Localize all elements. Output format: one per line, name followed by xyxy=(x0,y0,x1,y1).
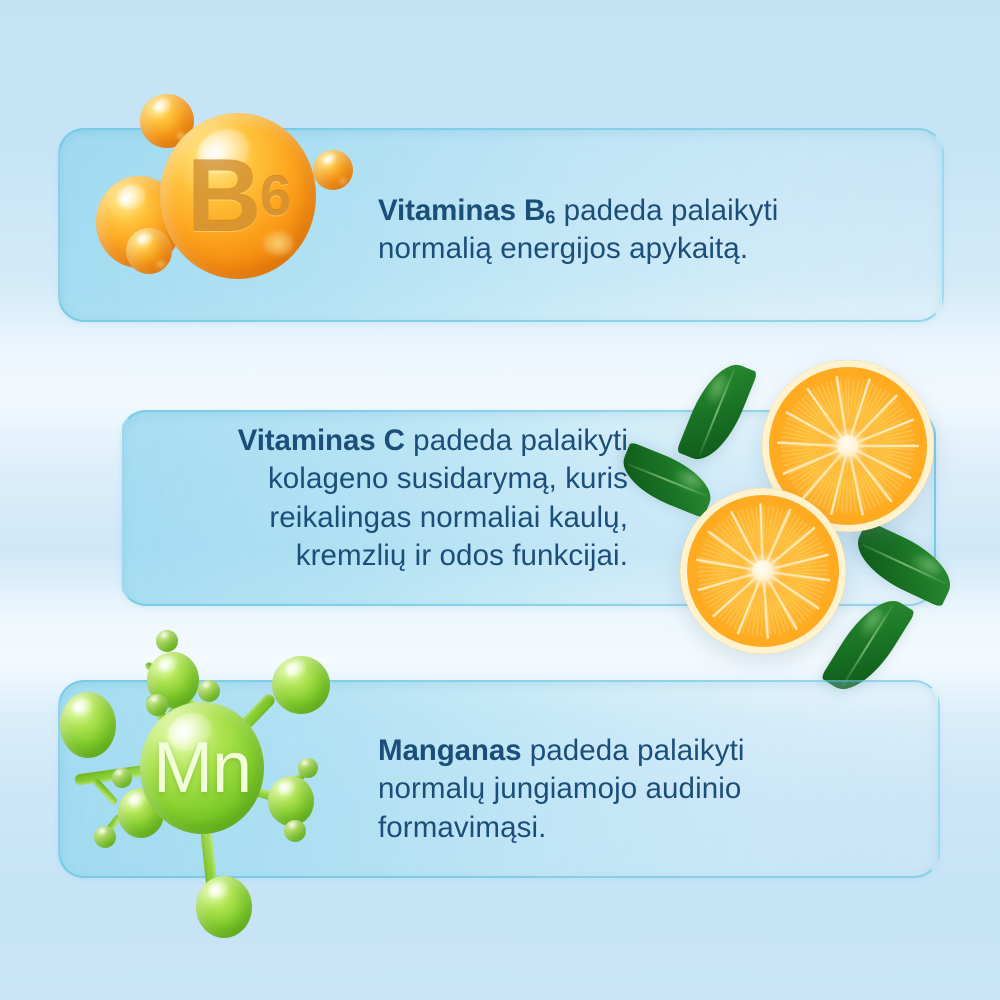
mn-sphere-bottom xyxy=(196,876,252,938)
mn-sphere-upper-right xyxy=(272,656,330,714)
label-vitamin-b6-name: Vitaminas B xyxy=(378,194,545,227)
label-vitamin-b6-subscript: 6 xyxy=(545,206,555,227)
mn-sphere-left-cluster-tiny-b xyxy=(94,826,116,848)
text-vitamin-c: Vitaminas C padeda palaikyti kolageno su… xyxy=(118,422,628,575)
leaf-shine xyxy=(854,603,890,644)
orange-half-bottom xyxy=(680,488,846,654)
mn-sphere-left-cluster-tiny-a xyxy=(112,768,132,788)
mn-main-sphere xyxy=(140,702,264,834)
label-vitamin-c: Vitaminas C xyxy=(238,424,405,457)
mn-sphere-top-cluster-tiny-c xyxy=(146,694,168,716)
infographic-canvas: B6 Vitaminas B6 padeda palaikyti normali… xyxy=(0,0,1000,1000)
text-vitamin-b6: Vitaminas B6 padeda palaikyti normalią e… xyxy=(378,192,898,269)
mn-sphere-right-cluster xyxy=(268,776,314,826)
mn-sphere-right-cluster-tiny-a xyxy=(298,758,318,778)
label-vitamin-b6: Vitaminas B6 xyxy=(378,194,555,227)
text-manganese: Manganas padeda palaikyti normalų jungia… xyxy=(378,732,898,847)
b6-satellite-sphere-bottom xyxy=(126,228,172,274)
b6-main-sphere xyxy=(160,113,316,279)
mn-sphere-top-cluster-tiny-a xyxy=(156,630,178,652)
b6-satellite-sphere-right xyxy=(313,150,353,190)
leaf-shine xyxy=(702,371,734,411)
orange-core xyxy=(752,560,774,582)
leaf-shine xyxy=(905,548,946,582)
mn-sphere-left xyxy=(60,692,116,758)
mn-sphere-right-cluster-tiny-b xyxy=(284,820,306,842)
label-manganese: Manganas xyxy=(378,734,521,767)
mn-sphere-top-cluster-tiny-b xyxy=(198,680,220,702)
